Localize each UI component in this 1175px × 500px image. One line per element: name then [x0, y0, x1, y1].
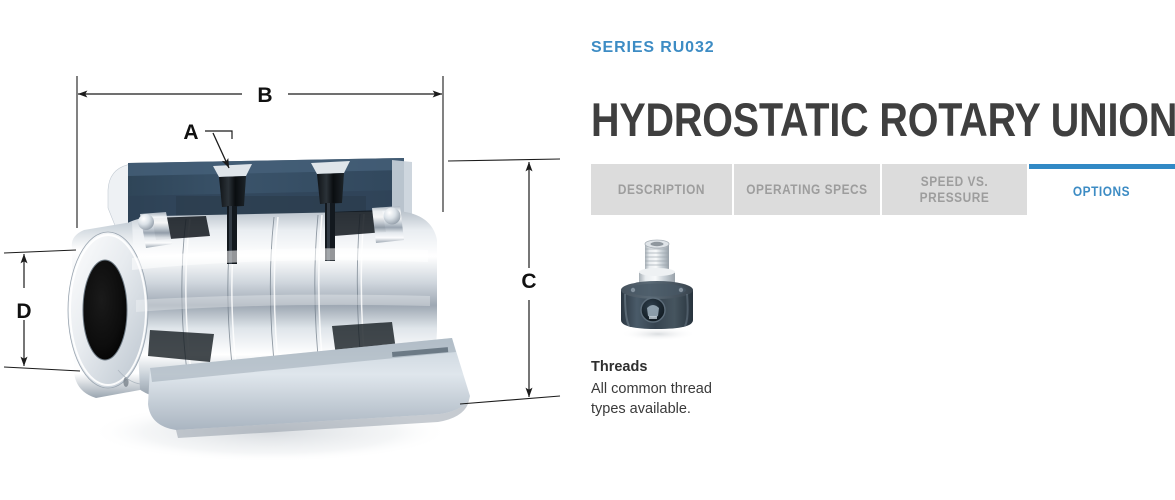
option-name: Threads: [591, 358, 761, 378]
series-label: SERIES RU032: [591, 40, 715, 56]
rotary-union-dimensioned-drawing: B A C D: [0, 0, 580, 500]
extension-line-c-top: [448, 159, 560, 161]
ball-detent-right: [384, 208, 401, 225]
product-info-pane: SERIES RU032 HYDROSTATIC ROTARY UNION DE…: [591, 0, 1175, 500]
tab-description-label: DESCRIPTION: [618, 182, 705, 197]
dimension-label-D: D: [16, 300, 31, 323]
tab-description[interactable]: DESCRIPTION: [591, 164, 734, 215]
dimension-label-A: A: [183, 121, 198, 144]
tab-options[interactable]: OPTIONS: [1029, 164, 1175, 215]
thumb-shadow: [620, 327, 696, 341]
option-thumbnail[interactable]: [591, 228, 741, 348]
dimension-label-B: B: [257, 84, 272, 107]
tab-speed-vs-pressure-label: SPEED VS. PRESSURE: [894, 174, 1015, 204]
extension-line-c-bottom: [460, 396, 560, 404]
option-card-threads[interactable]: Threads All common thread types availabl…: [591, 228, 761, 420]
product-detail-page: B A C D: [0, 0, 1175, 500]
option-description: All common thread types available.: [591, 379, 741, 420]
extension-line-d-top: [4, 250, 76, 253]
tab-operating-specs-label: OPERATING SPECS: [746, 182, 867, 197]
ball-detent-left: [138, 214, 154, 230]
rotary-union-threaded-port-image: [591, 228, 741, 348]
rotary-union-body: [68, 158, 470, 438]
dimension-C: [448, 159, 560, 404]
technical-drawing-pane: B A C D: [0, 0, 580, 500]
extension-line-d-bottom: [4, 367, 80, 371]
leader-line-a-elbow: [205, 131, 232, 139]
product-tabs: DESCRIPTION OPERATING SPECS SPEED VS. PR…: [591, 164, 1175, 215]
tab-options-label: OPTIONS: [1073, 184, 1130, 199]
dimension-label-C: C: [521, 270, 536, 293]
tab-operating-specs[interactable]: OPERATING SPECS: [734, 164, 882, 215]
tab-speed-vs-pressure[interactable]: SPEED VS. PRESSURE: [882, 164, 1029, 215]
page-title: HYDROSTATIC ROTARY UNION: [591, 95, 1175, 144]
